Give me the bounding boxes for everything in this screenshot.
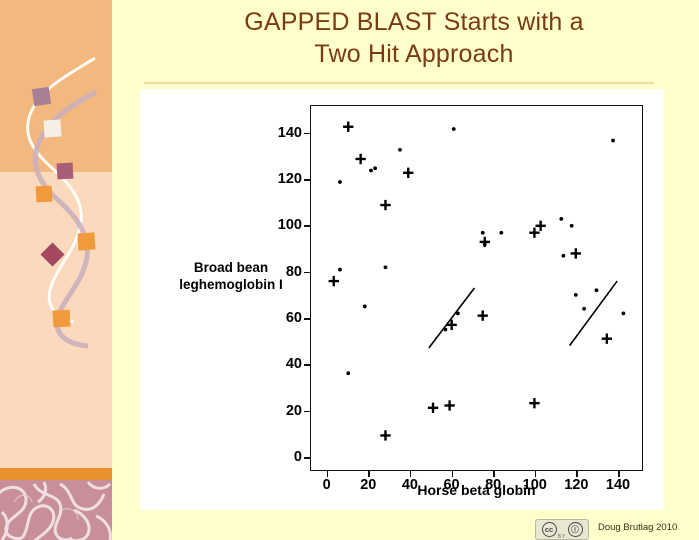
decorative-sidebar (0, 0, 112, 540)
data-point-dot (346, 371, 350, 375)
data-point-dot (452, 127, 456, 131)
y-tick-mark (304, 411, 310, 413)
x-tick-mark (493, 471, 495, 477)
x-tick-mark (452, 471, 454, 477)
sidebar-square-orange-mid (77, 232, 95, 250)
data-point-dot (570, 224, 574, 228)
data-point-cross (329, 276, 339, 286)
y-tick-mark (304, 179, 310, 181)
page-title: GAPPED BLAST Starts with a Two Hit Appro… (140, 6, 688, 70)
y-tick-label: 100 (262, 217, 302, 233)
y-tick-mark (304, 272, 310, 274)
data-point-dot (611, 139, 615, 143)
y-tick-mark (304, 318, 310, 320)
scatter-plot-area (311, 106, 642, 470)
x-tick-mark (535, 471, 537, 477)
data-point-cross (444, 400, 454, 410)
title-line-2: Two Hit Approach (140, 38, 688, 70)
y-tick-label: 80 (262, 264, 302, 280)
data-point-cross (447, 320, 457, 330)
data-point-dot (456, 311, 460, 315)
data-point-dot (582, 307, 586, 311)
diagonal-alignment-line-2 (570, 281, 618, 346)
data-point-cross (478, 310, 488, 320)
sidebar-square-mauve-top (32, 87, 51, 106)
y-tick-label: 120 (262, 171, 302, 187)
y-tick-label: 140 (262, 125, 302, 141)
plot-frame (310, 105, 643, 471)
x-tick-mark (327, 471, 329, 477)
y-tick-label: 40 (262, 356, 302, 372)
y-tick-label: 60 (262, 310, 302, 326)
data-point-cross (428, 403, 438, 413)
x-tick-mark (618, 471, 620, 477)
data-point-dot (369, 169, 373, 173)
creative-commons-badge[interactable]: cc ⓘ BY (535, 519, 589, 540)
data-point-dot (398, 148, 402, 152)
data-point-dot (595, 288, 599, 292)
sidebar-floral-band (0, 480, 112, 540)
figure-panel: Broad bean leghemoglobin I 0204060801001… (140, 89, 664, 510)
data-point-cross (355, 154, 365, 164)
y-tick-mark (304, 133, 310, 135)
diagonal-alignment-line-1 (429, 288, 475, 348)
sidebar-square-plum (57, 163, 74, 180)
title-divider (144, 82, 654, 84)
y-tick-mark (304, 225, 310, 227)
data-point-cross (571, 248, 581, 258)
ribbon-decoration-icon (0, 0, 112, 470)
data-point-dot (338, 180, 342, 184)
data-point-dot (373, 166, 377, 170)
data-point-dot (559, 217, 563, 221)
data-point-dot (561, 254, 565, 258)
data-point-cross (380, 430, 390, 440)
y-tick-mark (304, 457, 310, 459)
data-point-dot (481, 231, 485, 235)
data-point-cross (535, 221, 545, 231)
slide-canvas: GAPPED BLAST Starts with a Two Hit Appro… (0, 0, 699, 540)
data-point-cross (380, 200, 390, 210)
title-line-1: GAPPED BLAST Starts with a (140, 6, 688, 38)
data-point-dot (499, 231, 503, 235)
x-tick-mark (368, 471, 370, 477)
data-point-dot (384, 265, 388, 269)
data-point-dot (444, 328, 448, 332)
data-point-cross (602, 334, 612, 344)
cc-by-label: BY (536, 534, 588, 540)
data-point-dot (363, 305, 367, 309)
sidebar-square-orange-upper (36, 186, 53, 203)
sidebar-square-orange-lower (53, 310, 71, 328)
sidebar-orange-rule (0, 468, 112, 480)
data-point-dot (338, 268, 342, 272)
data-point-cross (403, 168, 413, 178)
attribution-text: Doug Brutlag 2010 (598, 522, 677, 533)
data-point-dot (621, 311, 625, 315)
data-point-dot (483, 242, 487, 246)
data-point-dot (574, 293, 578, 297)
y-tick-label: 20 (262, 403, 302, 419)
data-point-cross (529, 398, 539, 408)
y-tick-mark (304, 364, 310, 366)
sidebar-square-cream (43, 119, 61, 137)
floral-pattern-icon (0, 480, 112, 540)
x-axis-label: Horse beta globin (310, 482, 643, 498)
data-point-cross (343, 122, 353, 132)
x-tick-mark (410, 471, 412, 477)
x-tick-mark (576, 471, 578, 477)
data-point-cross (529, 228, 539, 238)
y-tick-label: 0 (262, 449, 302, 465)
